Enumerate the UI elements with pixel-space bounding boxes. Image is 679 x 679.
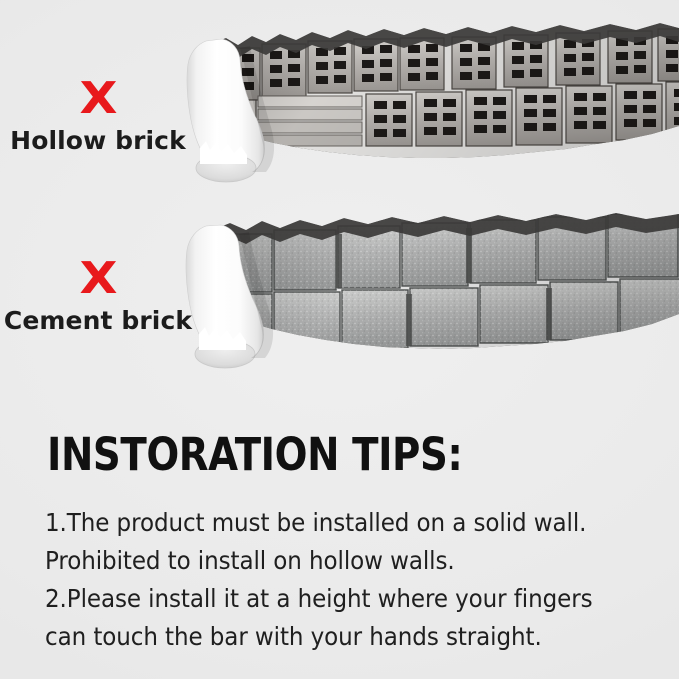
red-x-icon: X xyxy=(0,78,208,120)
tip-line: 1.The product must be installed on a sol… xyxy=(45,504,609,542)
hollow-brick-label-group: X Hollow brick xyxy=(0,78,196,155)
cement-brick-label-group: X Cement brick xyxy=(0,258,196,335)
red-x-icon: X xyxy=(0,258,208,300)
tips-heading: INSTORATION TIPS: xyxy=(47,432,561,478)
cement-brick-label: Cement brick xyxy=(0,306,196,335)
installation-tips-section: INSTORATION TIPS: 1.The product must be … xyxy=(45,432,645,656)
tip-line: 2.Please install it at a height where yo… xyxy=(45,580,609,618)
hollow-brick-wall xyxy=(200,8,679,200)
tip-line: Prohibited to install on hollow walls. xyxy=(45,542,609,580)
instruction-graphic: X Hollow brick X Cement brick INSTORATIO… xyxy=(0,0,679,679)
hollow-brick-label: Hollow brick xyxy=(0,126,196,155)
cement-block-wall xyxy=(200,190,679,382)
tip-line: can touch the bar with your hands straig… xyxy=(45,618,609,656)
